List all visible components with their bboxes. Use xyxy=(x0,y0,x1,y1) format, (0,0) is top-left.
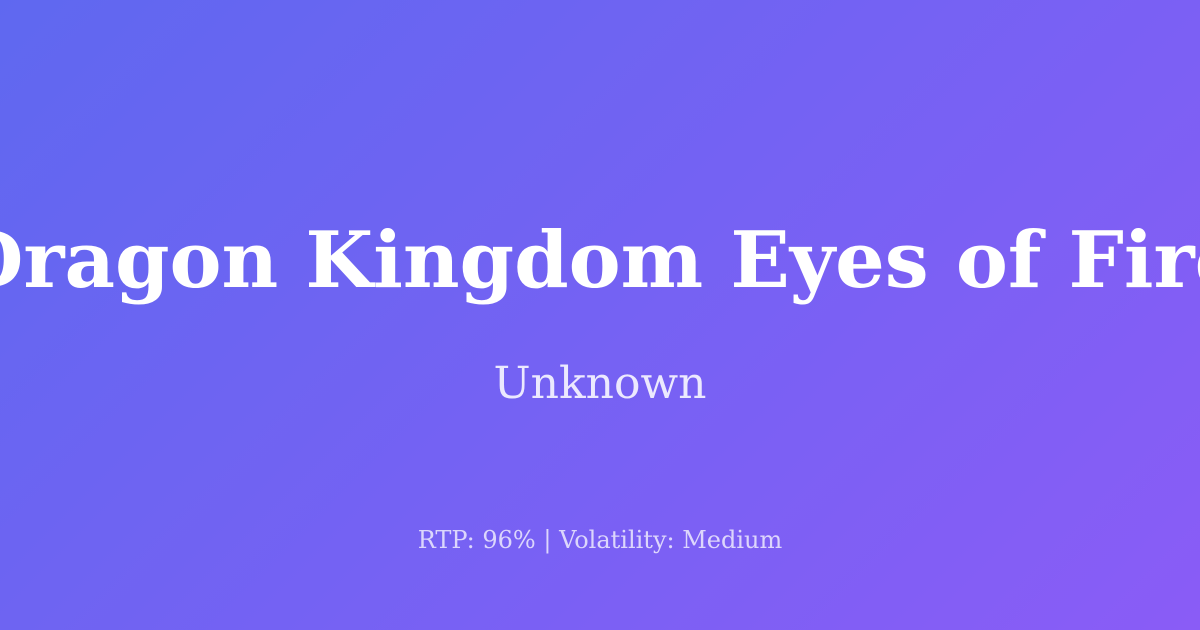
title-container: Dragon Kingdom Eyes of Fire xyxy=(0,222,1200,300)
og-share-card: Dragon Kingdom Eyes of Fire Unknown RTP:… xyxy=(0,0,1200,630)
meta-container: RTP: 96% | Volatility: Medium xyxy=(0,528,1200,552)
game-meta-line: RTP: 96% | Volatility: Medium xyxy=(0,528,1200,552)
subtitle-container: Unknown xyxy=(0,362,1200,406)
provider-subtitle: Unknown xyxy=(0,362,1200,406)
page-title: Dragon Kingdom Eyes of Fire xyxy=(0,222,1200,300)
